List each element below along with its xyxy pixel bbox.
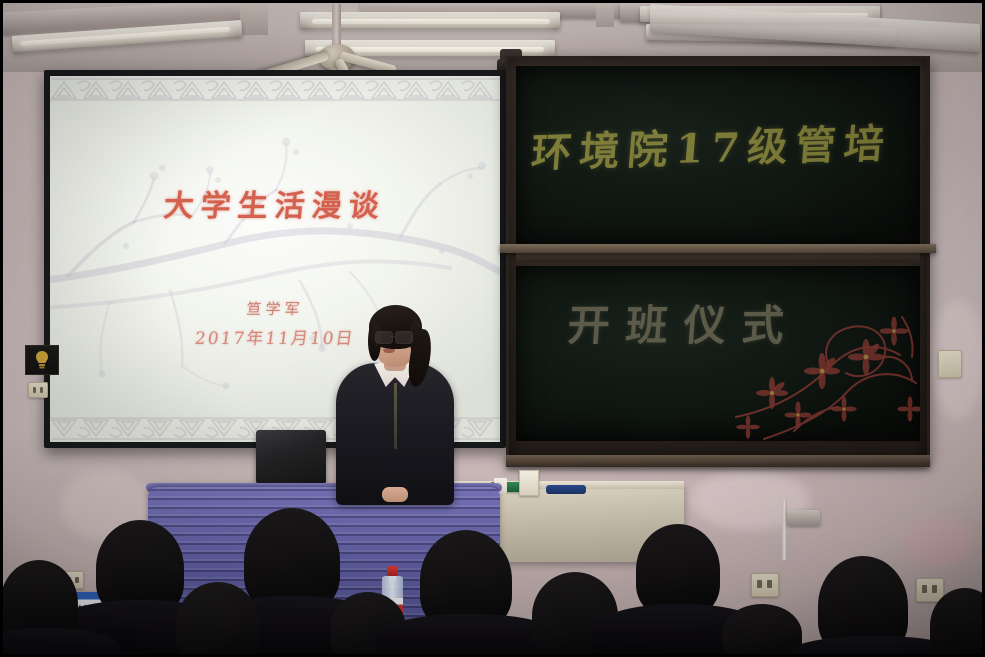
power-outlet[interactable] [751, 573, 779, 597]
presenter [330, 305, 460, 505]
light-tube [312, 19, 550, 24]
chalk-flower-decoration [734, 297, 920, 441]
light-bulb-icon [34, 350, 50, 370]
slide-title: 大学生活漫谈 [50, 181, 500, 225]
audience-head [636, 524, 720, 616]
bottle-cap [387, 566, 398, 576]
presenter-hand [382, 487, 408, 502]
conduit-clamp [787, 510, 820, 526]
ceiling-vent [596, 0, 614, 27]
blackboard-frame: 环境院17级管培 开班仪式 [506, 56, 930, 462]
blackboard-divider [516, 252, 920, 262]
presenter-zipper [394, 383, 397, 449]
light-switch[interactable] [938, 350, 962, 378]
blackboard-line-1: 环境院17级管培 [529, 111, 894, 178]
fan-rod [332, 4, 341, 48]
eyeglasses-bridge [390, 336, 396, 337]
power-outlet[interactable] [28, 382, 48, 398]
blackboard-lower-panel[interactable]: 开班仪式 [516, 266, 920, 441]
chalk-tray [506, 455, 930, 467]
blue-eraser[interactable] [546, 485, 586, 494]
ceiling-vent [240, 0, 268, 35]
wall-blotch [905, 520, 975, 565]
eyeglasses-left-lens [375, 331, 393, 344]
classroom-photo: 大学生活漫谈 笪学军 2017年11月10日 环境院17级管培 开班仪式 [0, 0, 985, 657]
wall-conduit [782, 500, 787, 560]
chalk-box[interactable] [519, 470, 539, 496]
blackboard-middle-ledge [500, 244, 936, 253]
eyeglasses-right-lens [395, 331, 413, 344]
desktop-monitor[interactable] [256, 430, 326, 484]
slide-border-pattern-top [50, 76, 500, 102]
blackboard-upper-panel[interactable]: 环境院17级管培 [516, 66, 920, 248]
energy-saving-sign [25, 345, 59, 375]
